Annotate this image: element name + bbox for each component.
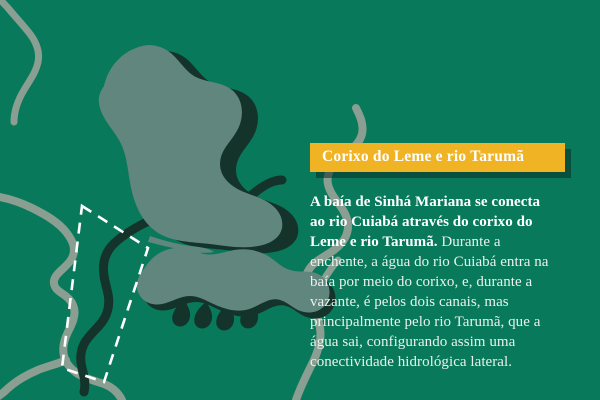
- callout-body-lead: A baía de Sinhá Mariana se conecta ao ri…: [310, 194, 540, 250]
- callout-panel: Corixo do Leme e rio Tarumã A baía de Si…: [310, 143, 566, 387]
- callout-title: Corixo do Leme e rio Tarumã: [322, 148, 555, 166]
- callout-body: A baía de Sinhá Mariana se conecta ao ri…: [310, 192, 554, 372]
- callout-body-rest: Durante a enchente, a água do rio Cuiabá…: [310, 234, 549, 370]
- title-banner: Corixo do Leme e rio Tarumã: [310, 143, 565, 172]
- infographic-canvas: Corixo do Leme e rio Tarumã A baía de Si…: [0, 0, 600, 400]
